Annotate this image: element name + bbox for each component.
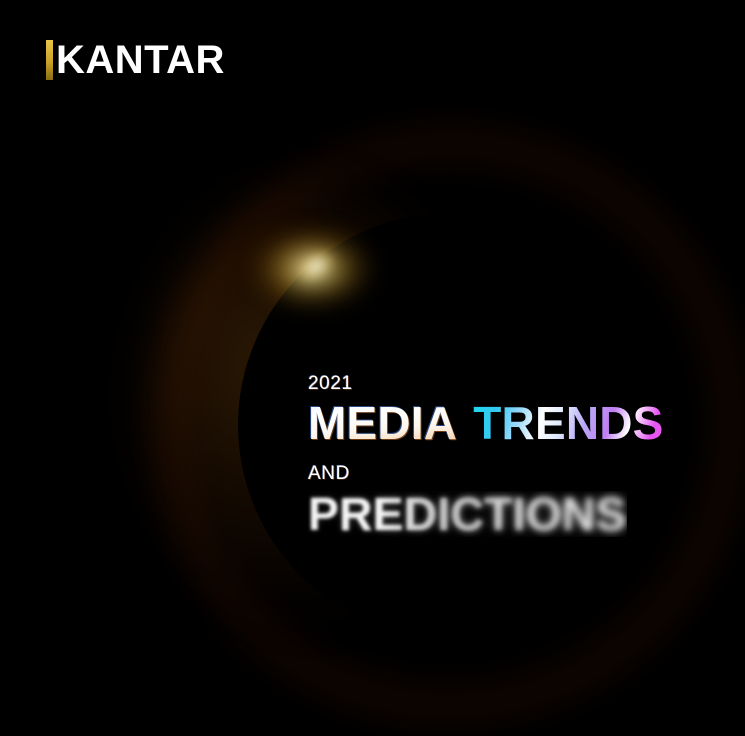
headline-word-media: MEDIA bbox=[308, 400, 457, 446]
cover-slide: KANTAR 2021 MEDIA TRENDS AND PREDICTIONS… bbox=[0, 0, 745, 736]
kantar-logo: KANTAR bbox=[46, 40, 225, 80]
headline-word-trends: TRENDS bbox=[473, 400, 663, 446]
kantar-logo-text: KANTAR bbox=[56, 40, 225, 80]
title-connector: AND bbox=[308, 464, 708, 483]
subhead-soft-blur-layer: PREDICTIONS bbox=[308, 491, 627, 537]
title-block: 2021 MEDIA TRENDS AND PREDICTIONS PREDIC… bbox=[308, 374, 708, 541]
kantar-logo-accent-bar bbox=[46, 40, 53, 80]
title-subhead: PREDICTIONS PREDICTIONS PREDICTIONS PRED… bbox=[308, 491, 708, 537]
title-year: 2021 bbox=[308, 374, 708, 393]
title-headline: MEDIA TRENDS bbox=[308, 400, 708, 446]
title-subhead-wrap: PREDICTIONS PREDICTIONS PREDICTIONS PRED… bbox=[308, 491, 708, 541]
